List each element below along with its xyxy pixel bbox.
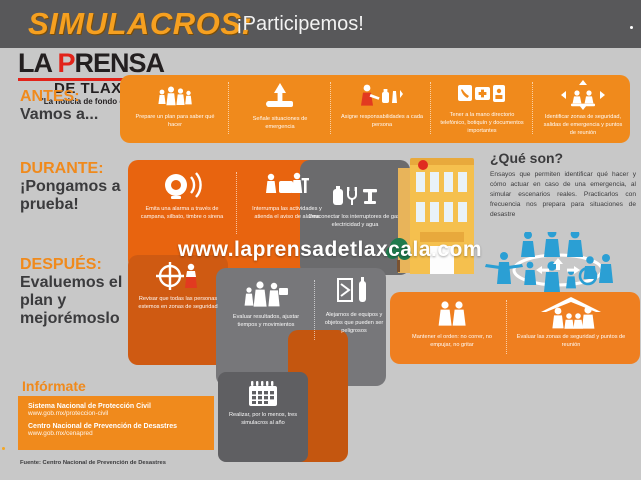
check-people-icon <box>154 262 202 292</box>
infographic-page: SIMULACROS: ¡Participemos! LA PRENSA DE … <box>0 0 641 480</box>
despues-caption-0: Revisar que todas las personas estemos e… <box>130 295 226 311</box>
fuente-text: Fuente: Centro Nacional de Prevención de… <box>20 460 166 466</box>
building-alarm-icon <box>418 160 428 170</box>
assign-roles-icon <box>358 82 406 110</box>
window <box>458 172 467 192</box>
durante-caption-2: Desconectar los interruptores de gas, el… <box>304 213 406 229</box>
window <box>430 202 439 222</box>
watermark: www.laprensadetlaxcala.com <box>178 238 482 262</box>
page-title: SIMULACROS: <box>28 6 252 42</box>
informate-url-1[interactable]: www.gob.mx/cenapred <box>28 430 214 437</box>
shutoff-gas-icon <box>330 184 380 210</box>
antes-item-0: Prepare un plan para saber qué hacer <box>128 84 222 129</box>
informate-box: Sistema Nacional de Protección Civil www… <box>18 396 214 450</box>
durante-item-3: Mantener el orden: no correr, no empujar… <box>398 300 506 349</box>
divider-7 <box>506 300 507 354</box>
durante-sublabel: ¡Pongamos a prueba! <box>20 178 140 214</box>
evaluate-results-icon <box>243 280 289 310</box>
durante-caption-0: Emita una alarma a través de campana, si… <box>134 205 230 221</box>
divider-4 <box>532 82 533 134</box>
durante-caption-3: Mantener el orden: no correr, no empujar… <box>398 333 506 349</box>
family-plan-icon <box>155 84 195 110</box>
antes-item-3: Tener a la mano directorio telefónico, b… <box>434 82 530 135</box>
antes-label: ANTES: <box>20 88 140 106</box>
antes-caption-0: Prepare un plan para saber qué hacer <box>128 113 222 129</box>
divider-2 <box>330 82 331 134</box>
window <box>444 172 453 192</box>
divider-6 <box>314 280 315 340</box>
durante-item-2: Desconectar los interruptores de gas, el… <box>304 184 406 229</box>
page-header: SIMULACROS: ¡Participemos! <box>0 0 641 48</box>
durante-label-group: DURANTE: ¡Pongamos a prueba! <box>20 160 140 214</box>
antes-item-4: Identificar zonas de seguridad, salidas … <box>536 80 630 137</box>
page-subtitle: ¡Participemos! <box>236 13 364 36</box>
despues-caption-1: Evaluar resultados, ajustar tiempos y mo… <box>220 313 312 329</box>
window <box>416 172 425 192</box>
window <box>458 202 467 222</box>
corner-marker <box>2 447 5 450</box>
antes-label-group: ANTES: Vamos a... <box>20 88 140 124</box>
despues-caption-3: Realizar, por lo menos, tres simulacros … <box>220 411 306 427</box>
durante-item-0: Emita una alarma a través de campana, si… <box>134 172 230 221</box>
safety-zones-icon <box>561 80 605 110</box>
informate-name-0: Sistema Nacional de Protección Civil <box>28 403 214 410</box>
hazard-objects-icon <box>336 276 372 308</box>
meeting-point-icon <box>538 296 604 330</box>
durante-caption-4: Evaluar las zonas de seguridad y puntos … <box>512 333 630 349</box>
despues-item-0: Revisar que todas las personas estemos e… <box>130 262 226 311</box>
keep-order-icon <box>433 300 471 330</box>
que-son-heading: ¿Qué son? <box>490 150 636 166</box>
emergency-sign-icon <box>263 82 297 112</box>
divider-3 <box>430 82 431 134</box>
calendar-icon <box>248 380 278 408</box>
despues-sublabel: Evaluemos el plan y mejorémoslo <box>20 274 140 328</box>
despues-item-2: Alejarnos de equipos y objetos que puede… <box>318 276 390 335</box>
window <box>416 202 425 222</box>
antes-caption-2: Asigne responsabilidades a cada persona <box>334 113 430 129</box>
despues-item-1: Evaluar resultados, ajustar tiempos y mo… <box>220 280 312 329</box>
logo-p: P <box>58 48 75 78</box>
durante-item-4: Evaluar las zonas de seguridad y puntos … <box>512 296 630 349</box>
que-son-panel: ¿Qué son? Ensayos que permiten identific… <box>490 150 636 219</box>
despues-caption-2: Alejarnos de equipos y objetos que puede… <box>318 311 390 335</box>
blue-people-icon <box>482 232 634 294</box>
logo-rensa: RENSA <box>75 48 165 78</box>
divider-5 <box>236 172 237 234</box>
informate-name-1: Centro Nacional de Prevención de Desastr… <box>28 423 214 430</box>
antes-item-2: Asigne responsabilidades a cada persona <box>334 82 430 129</box>
divider-1 <box>228 82 229 134</box>
antes-caption-4: Identificar zonas de seguridad, salidas … <box>536 113 630 137</box>
meeting-point-illustration <box>482 232 634 294</box>
despues-item-3: Realizar, por lo menos, tres simulacros … <box>220 380 306 427</box>
cursor-pointer <box>630 26 633 29</box>
antes-caption-3: Tener a la mano directorio telefónico, b… <box>434 111 530 135</box>
que-son-body: Ensayos que permiten identificar qué hac… <box>490 170 636 219</box>
window <box>444 202 453 222</box>
window <box>430 172 439 192</box>
informate-url-0[interactable]: www.gob.mx/proteccion-civil <box>28 410 214 417</box>
alarm-bell-icon <box>161 172 203 202</box>
antes-caption-1: Señale situaciones de emergencia <box>234 115 326 131</box>
logo-la: LA <box>18 48 58 78</box>
durante-label: DURANTE: <box>20 160 140 178</box>
despues-label-group: DESPUÉS: Evaluemos el plan y mejorémoslo <box>20 256 140 328</box>
despues-label: DESPUÉS: <box>20 256 140 274</box>
antes-sublabel: Vamos a... <box>20 106 140 124</box>
antes-item-1: Señale situaciones de emergencia <box>234 82 326 131</box>
phone-kit-docs-icon <box>457 82 507 108</box>
informate-title: Infórmate <box>22 378 86 394</box>
